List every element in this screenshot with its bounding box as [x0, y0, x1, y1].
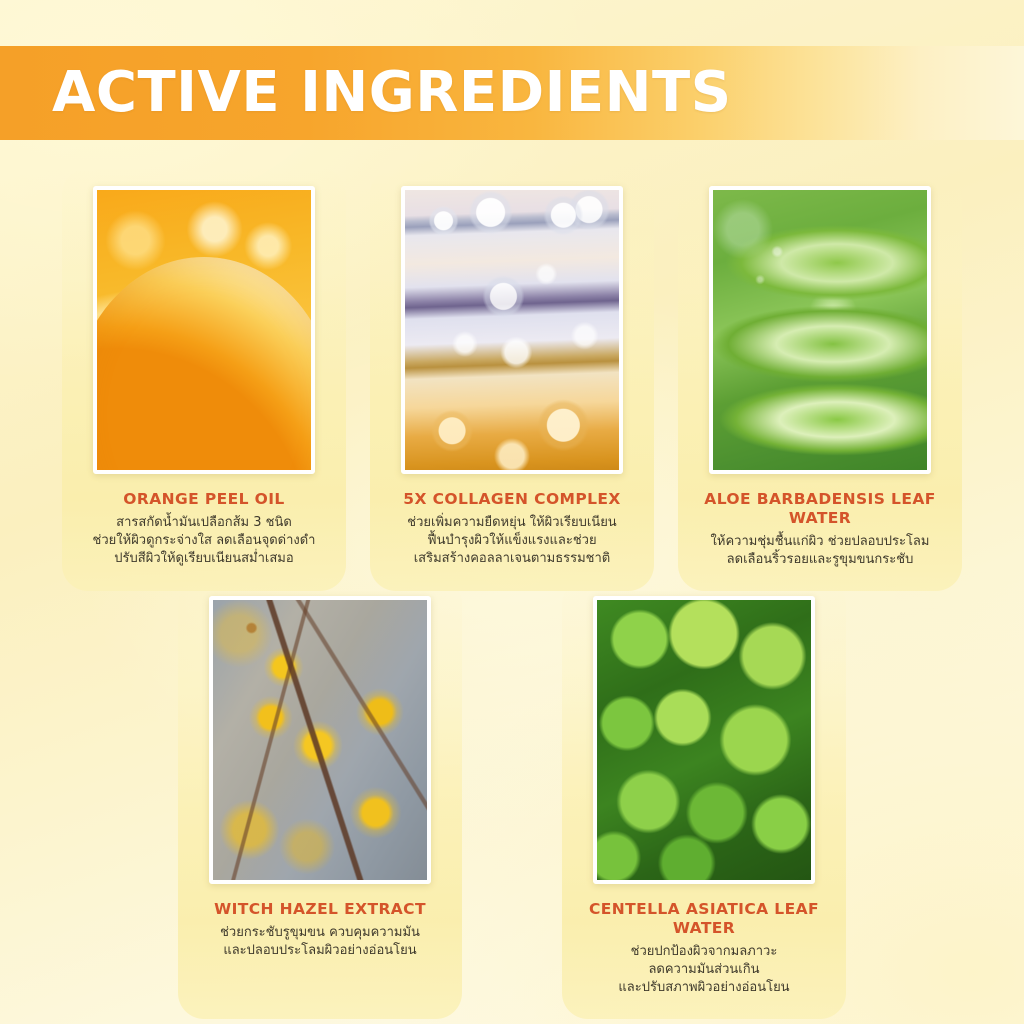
centella-asiatica-leaves-photo: [593, 596, 815, 884]
ingredient-description: ช่วยกระชับรูขุมขน ควบคุมความมัน และปลอบป…: [220, 924, 420, 960]
ingredient-title: ORANGE PEEL OIL: [123, 490, 284, 509]
orange-slice-photo: [93, 186, 315, 474]
ingredient-description: ช่วยปกป้องผิวจากมลภาวะ ลดความมันส่วนเกิน…: [618, 943, 789, 997]
aloe-vera-leaves-photo: [709, 186, 931, 474]
ingredient-title: WITCH HAZEL EXTRACT: [214, 900, 426, 919]
ingredient-card-centella-asiatica-leaf-water[interactable]: CENTELLA ASIATICA LEAF WATER ช่วยปกป้องผ…: [562, 578, 846, 1019]
ingredient-card-orange-peel-oil[interactable]: ORANGE PEEL OIL สารสกัดน้ำมันเปลือกส้ม 3…: [62, 168, 346, 591]
ingredient-description: ช่วยเพิ่มความยืดหยุ่น ให้ผิวเรียบเนียน ฟ…: [407, 514, 616, 568]
ingredient-card-aloe-barbadensis-leaf-water[interactable]: ALOE BARBADENSIS LEAF WATER ให้ความชุ่มช…: [678, 168, 962, 591]
ingredient-grid-row-1: ORANGE PEEL OIL สารสกัดน้ำมันเปลือกส้ม 3…: [62, 168, 962, 591]
ingredient-title: 5X COLLAGEN COMPLEX: [403, 490, 620, 509]
ingredient-description: สารสกัดน้ำมันเปลือกส้ม 3 ชนิด ช่วยให้ผิว…: [93, 514, 316, 568]
ingredient-card-5x-collagen-complex[interactable]: 5X COLLAGEN COMPLEX ช่วยเพิ่มความยืดหยุ่…: [370, 168, 654, 591]
page-title: ACTIVE INGREDIENTS: [52, 65, 732, 121]
ingredient-grid-row-2: WITCH HAZEL EXTRACT ช่วยกระชับรูขุมขน คว…: [178, 578, 846, 1019]
ingredient-title: CENTELLA ASIATICA LEAF WATER: [574, 900, 834, 938]
ingredient-description: ให้ความชุ่มชื้นแก่ผิว ช่วยปลอบประโลม ลดเ…: [711, 533, 930, 569]
ingredient-title: ALOE BARBADENSIS LEAF WATER: [690, 490, 950, 528]
witch-hazel-flowers-photo: [209, 596, 431, 884]
ingredient-card-witch-hazel-extract[interactable]: WITCH HAZEL EXTRACT ช่วยกระชับรูขุมขน คว…: [178, 578, 462, 1019]
header-banner: ACTIVE INGREDIENTS: [0, 46, 1024, 140]
collagen-liquid-layers-photo: [401, 186, 623, 474]
